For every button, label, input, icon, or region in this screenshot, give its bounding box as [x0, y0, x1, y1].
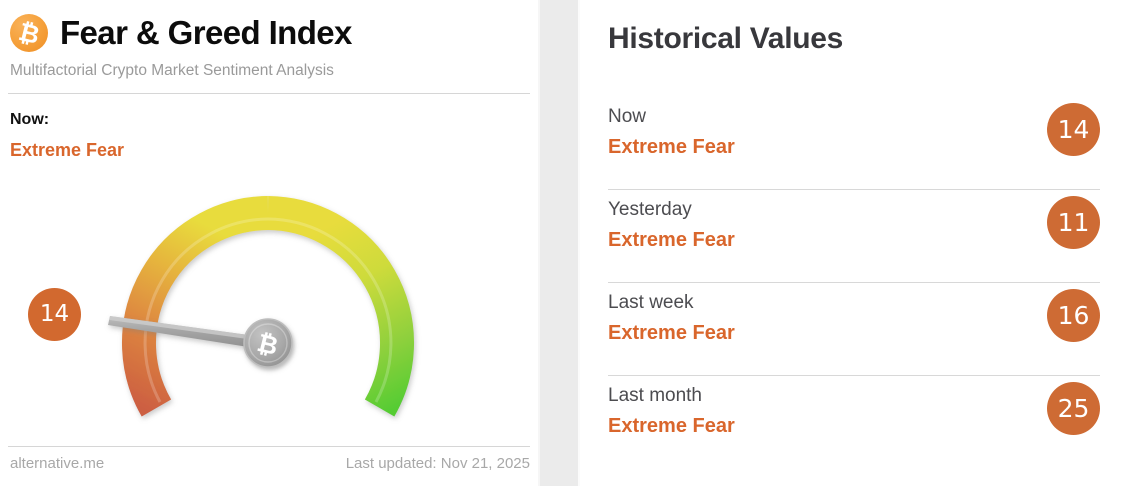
list-item-score-value: 16 — [1058, 303, 1090, 328]
list-item-sentiment: Extreme Fear — [608, 322, 735, 345]
source-link[interactable]: alternative.me — [10, 455, 104, 472]
footer-divider — [8, 446, 530, 447]
list-item-score-badge: 11 — [1047, 196, 1100, 249]
list-item-score-value: 11 — [1058, 210, 1090, 235]
list-item[interactable]: Last month Extreme Fear 25 — [608, 376, 1100, 469]
header-divider — [8, 93, 530, 94]
list-item-label: Now — [608, 106, 646, 128]
page-subtitle: Multifactorial Crypto Market Sentiment A… — [10, 62, 334, 80]
list-item-score-badge: 25 — [1047, 382, 1100, 435]
now-label: Now: — [10, 111, 49, 129]
list-item-label: Last month — [608, 385, 702, 407]
gauge-score-value: 14 — [40, 303, 69, 326]
list-item-score-badge: 16 — [1047, 289, 1100, 342]
gauge-svg: ₿ — [0, 152, 538, 437]
bitcoin-icon: ₿ — [10, 14, 48, 52]
page-title: Fear & Greed Index — [60, 14, 352, 52]
list-item-label: Yesterday — [608, 199, 692, 221]
list-item[interactable]: Now Extreme Fear 14 — [608, 97, 1100, 190]
list-item[interactable]: Yesterday Extreme Fear 11 — [608, 190, 1100, 283]
bitcoin-hub-icon: ₿ — [244, 319, 292, 367]
list-item-score-badge: 14 — [1047, 103, 1100, 156]
fear-greed-widget: ₿ Fear & Greed Index Multifactorial Cryp… — [0, 0, 1127, 486]
list-item-sentiment: Extreme Fear — [608, 415, 735, 438]
list-item-sentiment: Extreme Fear — [608, 229, 735, 252]
gauge-panel: ₿ Fear & Greed Index Multifactorial Cryp… — [0, 0, 538, 486]
bitcoin-glyph: ₿ — [16, 18, 42, 47]
list-item-score-value: 14 — [1058, 117, 1090, 142]
gauge-score-badge: 14 — [28, 288, 81, 341]
list-item-sentiment: Extreme Fear — [608, 136, 735, 159]
list-item[interactable]: Last week Extreme Fear 16 — [608, 283, 1100, 376]
brand-row: ₿ Fear & Greed Index — [10, 10, 352, 56]
gauge-arc — [139, 213, 397, 408]
historical-values-panel: Historical Values Now Extreme Fear 14 Ye… — [580, 0, 1127, 486]
list-item-score-value: 25 — [1058, 396, 1090, 421]
historical-values-title: Historical Values — [608, 22, 843, 56]
panel-gutter — [540, 0, 578, 486]
gauge-chart: ₿ — [0, 152, 538, 437]
historical-values-list: Now Extreme Fear 14 Yesterday Extreme Fe… — [608, 97, 1100, 469]
list-item-label: Last week — [608, 292, 694, 314]
last-updated-text: Last updated: Nov 21, 2025 — [346, 455, 530, 472]
